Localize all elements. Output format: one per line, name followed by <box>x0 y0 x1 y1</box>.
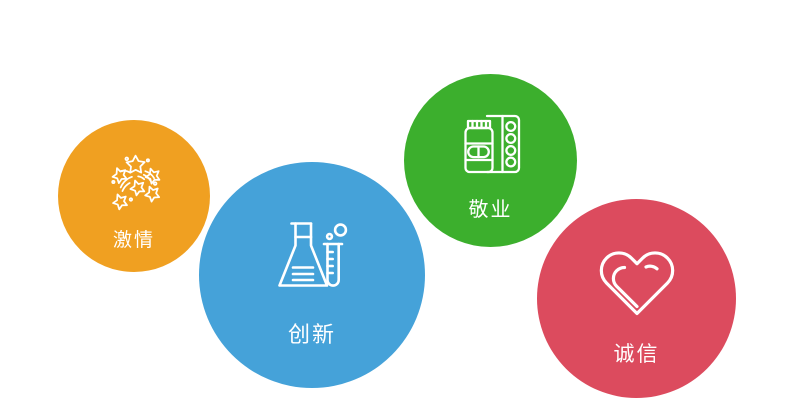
flask-test-tube-icon <box>268 213 356 301</box>
circle-content-innovation: 创新 <box>199 162 425 394</box>
value-label-integrity: 诚信 <box>614 338 660 368</box>
heart-outline-icon <box>594 242 680 322</box>
value-circle-integrity[interactable]: 诚信 <box>537 199 736 398</box>
value-circle-innovation[interactable]: 创新 <box>199 162 425 388</box>
value-label-passion: 激情 <box>113 225 155 252</box>
value-circle-passion[interactable]: 激情 <box>58 120 210 272</box>
value-label-dedication: 敬业 <box>469 193 513 222</box>
medicine-bottle-blister-pack-icon <box>454 107 528 181</box>
value-label-innovation: 创新 <box>288 317 336 349</box>
circle-content-passion: 激情 <box>58 120 210 276</box>
circle-content-integrity: 诚信 <box>537 199 736 404</box>
values-graphic: 激情 <box>0 0 800 412</box>
fireworks-stars-icon <box>101 149 167 215</box>
